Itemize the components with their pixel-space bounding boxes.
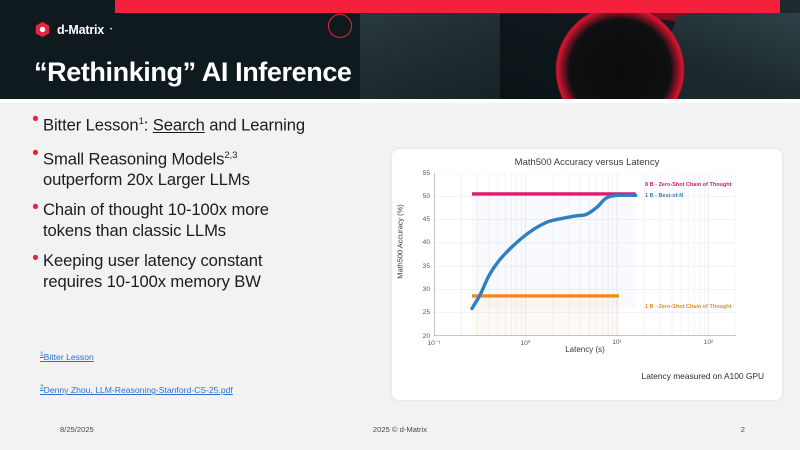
footnote-text: Bitter Lesson [44, 352, 94, 362]
slide-footer: 8/25/2025 2025 © d-Matrix 2 [0, 415, 800, 450]
slide: d-Matrix • “Rethinking” AI Inference • B… [0, 0, 800, 450]
bullet-post: and Learning [205, 116, 305, 135]
bullet-text: Keeping user latency constant requires 1… [43, 250, 262, 292]
y-axis-label-text: Math500 Accuracy (%) [396, 177, 405, 307]
bullet-underlined-term[interactable]: Search [153, 116, 205, 135]
list-item: • Keeping user latency constant requires… [28, 250, 396, 292]
y-tick-label: 25 [410, 309, 430, 316]
bullet-pre: Small Reasoning Models [43, 149, 224, 168]
slide-body: • Bitter Lesson1: Search and Learning • … [0, 103, 800, 415]
chart-card: Math500 Accuracy versus Latency Math500 … [392, 149, 782, 400]
bullet-post: outperform 20x Larger LLMs [43, 170, 250, 189]
chart-svg [434, 173, 736, 336]
y-tick-label: 45 [410, 216, 430, 223]
bullet-text: Chain of thought 10-100x more tokens tha… [43, 199, 269, 241]
chart-y-axis-label: Math500 Accuracy (%) [391, 171, 405, 321]
bullet-dot-icon: • [28, 249, 43, 269]
bullet-post: tokens than classic LLMs [43, 221, 226, 240]
bullet-pre: Chain of thought 10-100x more [43, 200, 269, 219]
y-tick-label: 40 [410, 239, 430, 246]
header-red-accent-bar [115, 0, 800, 13]
header-facet-left [360, 0, 520, 99]
bullet-text: Small Reasoning Models2,3 outperform 20x… [43, 145, 250, 191]
list-item: • Small Reasoning Models2,3 outperform 2… [28, 145, 396, 191]
footnote-text: Denny Zhou, LLM-Reasoning-Stanford-CS-25… [44, 385, 233, 395]
list-item: • Bitter Lesson1: Search and Learning [28, 111, 396, 136]
brand-name: d-Matrix [57, 23, 104, 37]
footer-page-number: 2 [741, 425, 745, 434]
bullet-text: Bitter Lesson1: Search and Learning [43, 111, 305, 136]
legend-label: 1 B - Zero-Shot Chain of Thought [645, 304, 731, 310]
bullet-dot-icon: • [28, 144, 43, 164]
footnote-row: 1Bitter Lesson [40, 347, 370, 371]
chart-plot-area [434, 173, 736, 336]
list-item: • Chain of thought 10-100x more tokens t… [28, 199, 396, 241]
page-title: “Rethinking” AI Inference [34, 57, 352, 88]
bullet-superscript: 2,3 [224, 150, 237, 161]
legend-label: 1 B - Best-of-N [645, 193, 683, 199]
bullet-pre: Bitter Lesson [43, 116, 139, 135]
footnote-link[interactable]: 1Bitter Lesson [40, 350, 94, 362]
footnote-row: 2Denny Zhou, LLM-Reasoning-Stanford-CS-2… [40, 380, 370, 404]
y-tick-label: 35 [410, 263, 430, 270]
chart-caption: Latency measured on A100 GPU [392, 371, 764, 381]
brand-logo: d-Matrix • [34, 21, 112, 38]
chart-title: Math500 Accuracy versus Latency [392, 157, 782, 168]
bullet-dot-icon: • [28, 198, 43, 218]
header-geometric-artwork [360, 0, 800, 99]
trademark-symbol: • [110, 27, 112, 33]
y-tick-label: 50 [410, 193, 430, 200]
footnote-link[interactable]: 2Denny Zhou, LLM-Reasoning-Stanford-CS-2… [40, 383, 233, 395]
y-tick-label: 30 [410, 286, 430, 293]
d-matrix-hexagon-icon [34, 21, 51, 38]
chart-x-axis-label: Latency (s) [434, 345, 736, 354]
outline-circle-icon [328, 14, 352, 38]
footer-copyright: 2025 © d-Matrix [0, 425, 800, 434]
slide-header: d-Matrix • “Rethinking” AI Inference [0, 0, 800, 99]
bullet-mid: : [144, 116, 153, 135]
bullet-dot-icon: • [28, 110, 43, 130]
bullet-pre: Keeping user latency constant [43, 251, 262, 270]
bullet-post: requires 10-100x memory BW [43, 272, 261, 291]
header-bar-cap [780, 0, 800, 13]
y-tick-label: 55 [410, 170, 430, 177]
bullet-list: • Bitter Lesson1: Search and Learning • … [28, 111, 396, 301]
legend-label: 8 B - Zero-Shot Chain of Thought [645, 182, 731, 188]
